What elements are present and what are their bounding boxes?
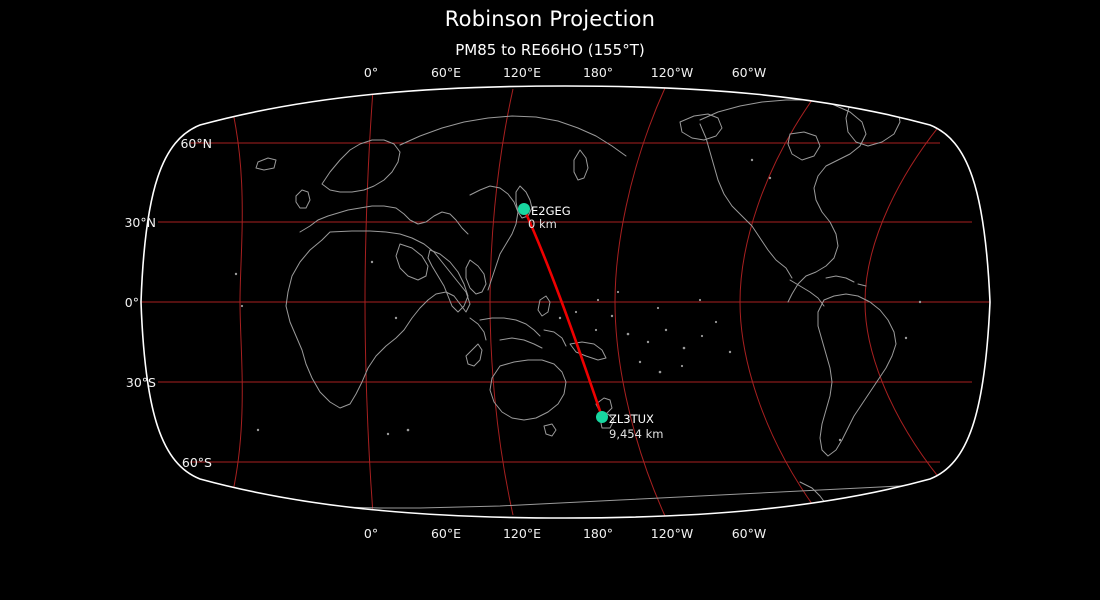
coast-india [428, 250, 468, 312]
lon-label-bottom-1: 60°E [431, 526, 461, 541]
marker-destination-callsign: ZL3TUX [609, 412, 654, 426]
graticule-group [141, 88, 1002, 516]
map-figure: Robinson Projection PM85 to RE66HO (155°… [0, 0, 1100, 600]
coast-na-west [700, 124, 792, 278]
lon-labels-top: 0° 60°E 120°E 180° 120°W 60°W [364, 65, 766, 80]
lat-label-0: 0° [125, 295, 139, 310]
coast-png [570, 342, 606, 360]
lon-label-top-4: 120°W [651, 65, 693, 80]
coast-antarctica-peninsula [800, 482, 826, 504]
coast-africa [286, 231, 470, 408]
lon-label-top-3: 180° [583, 65, 613, 80]
lat-labels-left: 60°N 30°N 0° 30°S 60°S [124, 136, 212, 470]
coast-madagascar [466, 344, 482, 366]
parallels [141, 143, 990, 462]
lon-label-bottom-2: 120°E [503, 526, 541, 541]
coast-europe [300, 206, 468, 234]
lat-label-60N: 60°N [180, 136, 212, 151]
coast-australia [490, 360, 566, 420]
lat-label-30S: 30°S [126, 375, 156, 390]
coast-indonesia [470, 318, 566, 348]
coast-scandinavia [322, 140, 400, 192]
coast-arabia [396, 244, 428, 280]
coast-southamerica [818, 294, 896, 456]
lon-label-top-0: 0° [364, 65, 378, 80]
lat-label-30N: 30°N [124, 215, 156, 230]
great-circle-path[interactable] [524, 209, 602, 417]
coast-hudson [788, 132, 820, 160]
lon-label-top-2: 120°E [503, 65, 541, 80]
coast-asia-east [470, 186, 518, 290]
lon-label-bottom-0: 0° [364, 526, 378, 541]
lat-label-60S: 60°S [182, 455, 212, 470]
marker-destination-dot[interactable] [596, 411, 608, 423]
coast-caribbean [826, 276, 866, 286]
coast-uk [296, 190, 310, 208]
lon-label-bottom-5: 60°W [732, 526, 767, 541]
lon-label-bottom-3: 180° [583, 526, 613, 541]
coast-iceland [256, 158, 276, 170]
lon-labels-bottom: 0° 60°E 120°E 180° 120°W 60°W [364, 526, 766, 541]
coast-tasmania [544, 424, 556, 436]
robinson-map[interactable]: E2GEG 0 km ZL3TUX 9,454 km 0° 60°E 120°E… [0, 0, 1100, 600]
meridian-90W [1000, 110, 1002, 494]
coast-northamerica [700, 100, 866, 302]
marker-destination-group[interactable]: ZL3TUX 9,454 km [596, 411, 663, 441]
coast-asia-north [400, 116, 626, 156]
coast-greenland [846, 100, 900, 146]
marker-origin-distance: 0 km [528, 217, 557, 231]
coast-kamchatka [574, 150, 588, 180]
coast-china-se [466, 260, 486, 294]
lon-label-bottom-4: 120°W [651, 526, 693, 541]
coastlines-group [200, 100, 930, 508]
pacific-islands [235, 159, 921, 441]
marker-origin-callsign: E2GEG [531, 204, 571, 218]
marker-origin-dot[interactable] [518, 203, 530, 215]
lon-label-top-1: 60°E [431, 65, 461, 80]
coast-philippines [538, 296, 550, 316]
marker-destination-distance: 9,454 km [609, 427, 663, 441]
lon-label-top-5: 60°W [732, 65, 767, 80]
